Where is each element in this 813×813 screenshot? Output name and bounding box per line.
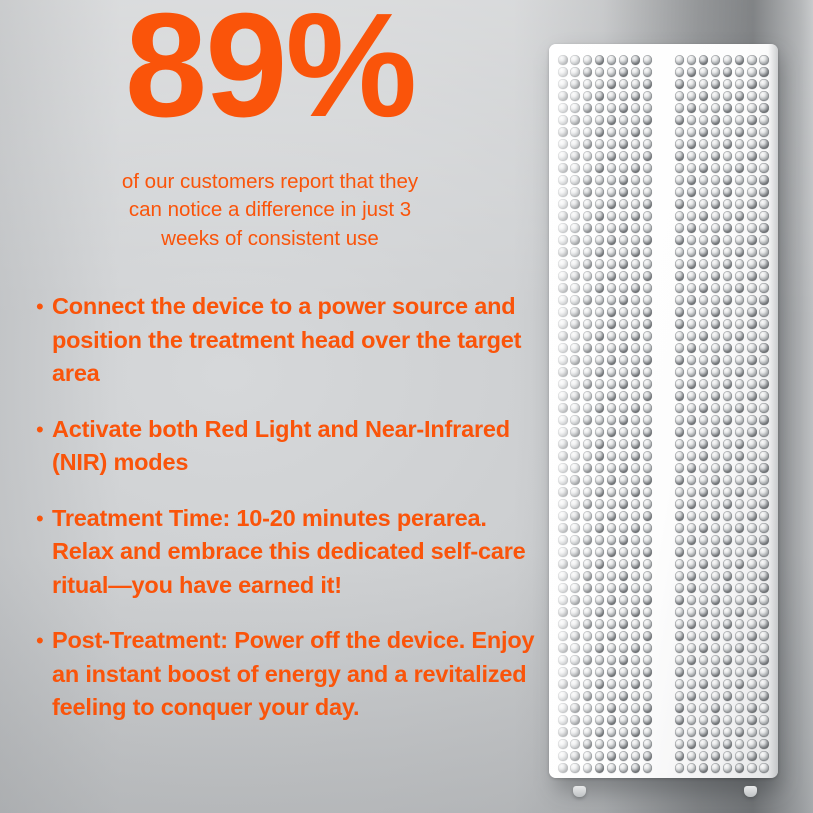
instruction-list: •Connect the device to a power source an… xyxy=(30,290,550,747)
list-item: •Activate both Red Light and Near-Infrar… xyxy=(30,413,550,480)
content-area: 89% of our customers report that they ca… xyxy=(0,0,813,813)
list-item-text: Treatment Time: 10-20 minutes perarea. R… xyxy=(52,502,550,603)
list-item: •Treatment Time: 10-20 minutes perarea. … xyxy=(30,502,550,603)
statistic-headline: 89% xyxy=(0,0,540,140)
list-item: •Post-Treatment: Power off the device. E… xyxy=(30,624,550,725)
list-item-text: Activate both Red Light and Near-Infrare… xyxy=(52,413,550,480)
bullet-dot-icon: • xyxy=(30,413,52,447)
statistic-subtitle: of our customers report that they can no… xyxy=(120,168,420,253)
bullet-dot-icon: • xyxy=(30,290,52,324)
list-item-text: Post-Treatment: Power off the device. En… xyxy=(52,624,550,725)
bullet-dot-icon: • xyxy=(30,624,52,658)
bullet-dot-icon: • xyxy=(30,502,52,536)
list-item: •Connect the device to a power source an… xyxy=(30,290,550,391)
list-item-text: Connect the device to a power source and… xyxy=(52,290,550,391)
